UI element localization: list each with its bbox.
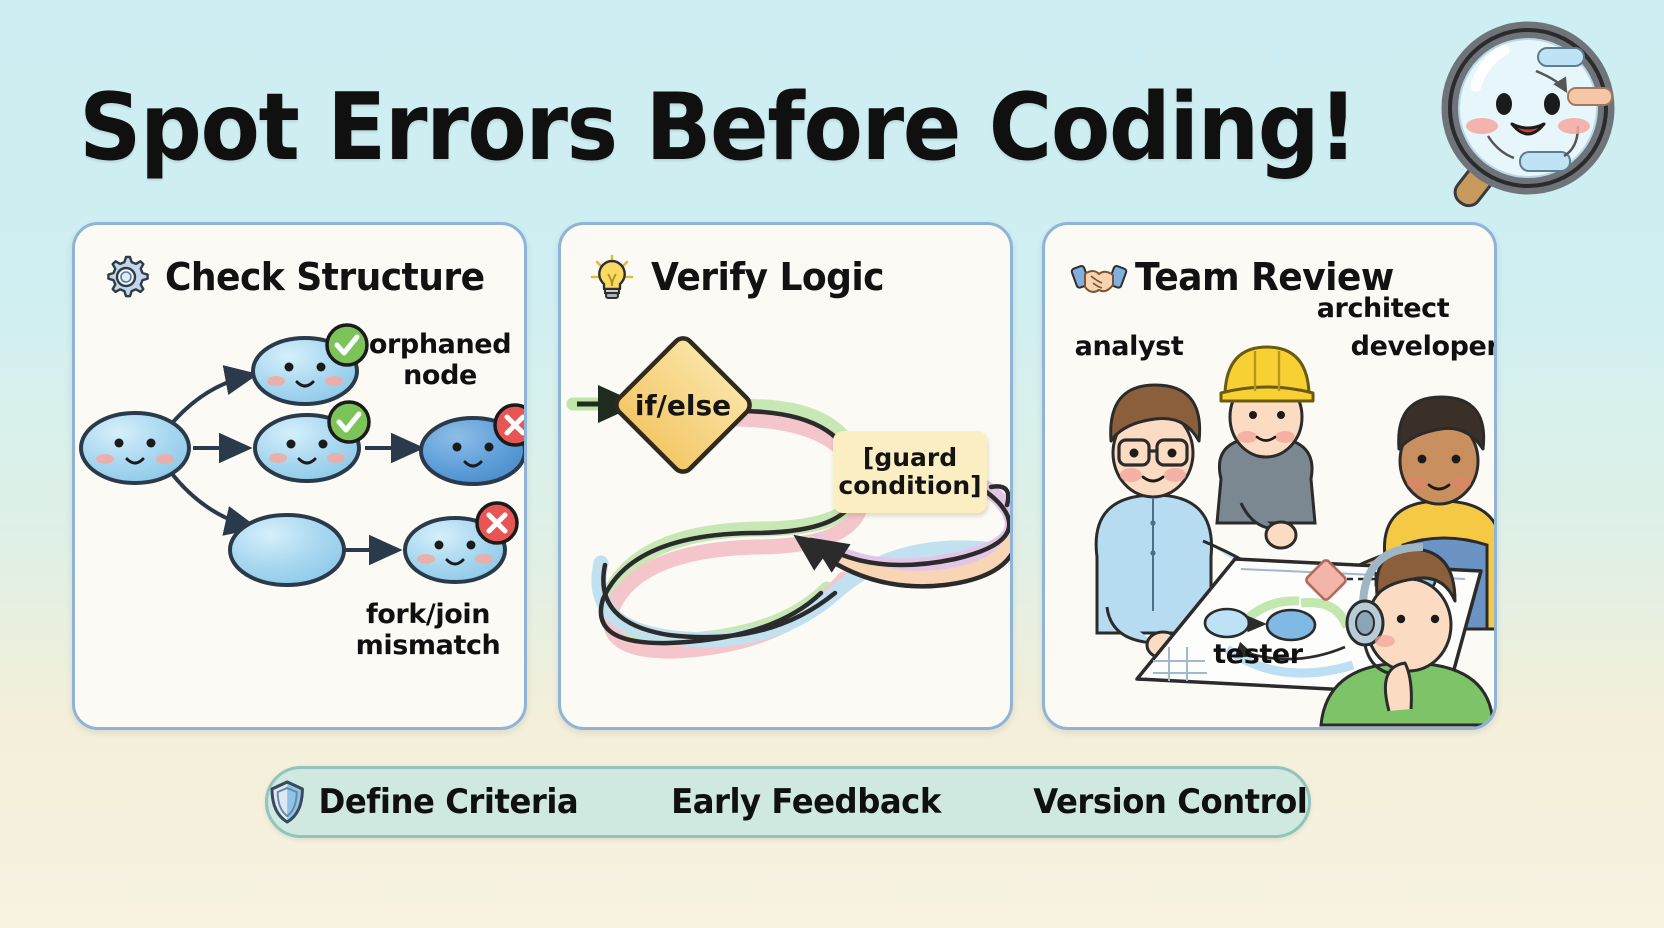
error-node	[421, 405, 527, 484]
guard-condition-note: [guard condition]	[833, 431, 987, 513]
middle-node	[255, 402, 369, 481]
footer-item-label: Early Feedback	[672, 782, 942, 822]
tester-label: tester	[1193, 639, 1323, 670]
fork-join-node	[405, 503, 517, 582]
orphaned-node-label: orphaned node	[365, 329, 515, 392]
footer-item-label: Version Control	[1034, 782, 1308, 822]
blank-node	[230, 515, 344, 585]
gear-icon	[103, 254, 149, 300]
define-criteria-item[interactable]: Define Criteria	[269, 780, 578, 824]
version-control-item[interactable]: Version Control	[1034, 782, 1308, 822]
card-verify-logic[interactable]: Verify Logic	[558, 222, 1013, 730]
lightbulb-icon	[589, 254, 635, 300]
team-scene: analyst architect developer tester	[1045, 307, 1494, 725]
analyst-label: analyst	[1059, 331, 1199, 362]
card-team-review[interactable]: Team Review	[1042, 222, 1497, 730]
logic-diagram: if/else [guard condition]	[561, 307, 1010, 725]
root-node	[81, 413, 189, 483]
person-architect	[1217, 347, 1315, 548]
svg-text:if/else: if/else	[635, 389, 731, 422]
developer-label: developer	[1345, 331, 1497, 362]
orphaned-node	[253, 325, 367, 404]
early-feedback-item[interactable]: Early Feedback	[672, 782, 942, 822]
shield-icon	[269, 780, 305, 824]
page-title: Spot Errors Before Coding!	[79, 73, 1356, 181]
handshake-icon	[1073, 254, 1119, 300]
card-title: Verify Logic	[651, 255, 884, 299]
footer-item-label: Define Criteria	[319, 782, 579, 822]
if-else-diamond: if/else	[612, 334, 753, 475]
card-header: Verify Logic	[561, 225, 1010, 307]
title-row: Spot Errors Before Coding!	[0, 52, 1664, 202]
infographic-canvas: Spot Errors Before Coding!	[0, 0, 1664, 928]
card-title: Check Structure	[165, 255, 485, 299]
card-check-structure[interactable]: Check Structure	[72, 222, 527, 730]
structure-diagram: orphaned node fork/join mismatch	[75, 307, 524, 725]
card-header: Check Structure	[75, 225, 524, 307]
fork-join-mismatch-label: fork/join mismatch	[343, 599, 513, 662]
footer-bar: Define Criteria Early Feedback Version C…	[265, 766, 1311, 838]
magnifying-glass-with-smiling-face-icon	[1428, 16, 1633, 216]
architect-label: architect	[1303, 293, 1463, 324]
